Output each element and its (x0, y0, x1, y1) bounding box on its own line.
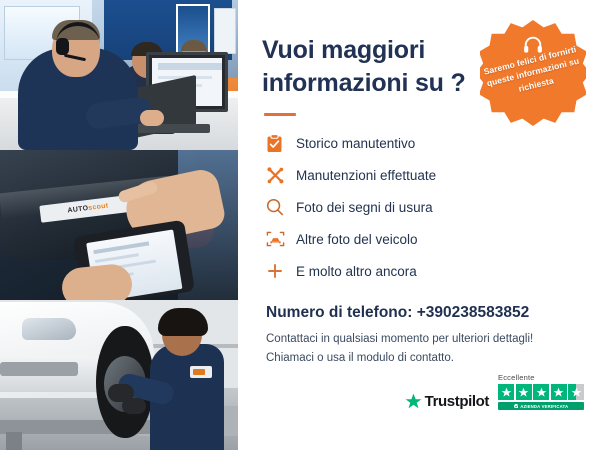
star-filled (516, 384, 532, 400)
list-item: Altre foto del veicolo (266, 226, 578, 252)
uniform-logo-patch (190, 366, 212, 378)
photo-call-center (0, 0, 238, 150)
photo-column: AUTOscout (0, 0, 238, 450)
magnifier-icon (266, 198, 292, 216)
star-filled (498, 384, 514, 400)
tablet-line (95, 253, 139, 263)
feature-list: Storico manutentivo Manutenzi (266, 130, 578, 284)
verified-text: AZIENDA VERIFICATA (520, 404, 568, 409)
page-title: Vuoi maggiori informazioni su ? (262, 34, 477, 99)
screen-toolbar (158, 63, 222, 70)
feature-label: Manutenzioni effettuate (296, 168, 436, 183)
star-half (568, 384, 584, 400)
photo-car-inspection: AUTOscout (0, 150, 238, 300)
contact-line-2: Chiamaci o usa il modulo di contatto. (266, 349, 578, 368)
check-circle-icon (514, 404, 519, 409)
car-lift-leg (6, 432, 22, 450)
car-headlight (22, 318, 76, 340)
auto-label-text: AUTOscout (67, 203, 109, 215)
inspector-hand-lower (60, 262, 134, 300)
tablet-line (93, 241, 149, 254)
list-item: E molto altro ancora (266, 258, 578, 284)
star-filled (551, 384, 567, 400)
content-panel: Vuoi maggiori informazioni su ? Saremo f… (238, 0, 600, 450)
trustpilot-name: Trustpilot (425, 393, 489, 410)
star-filled (533, 384, 549, 400)
feature-label: Foto dei segni di usura (296, 200, 433, 215)
feature-label: Storico manutentivo (296, 136, 415, 151)
list-item: Manutenzioni effettuate (266, 162, 578, 188)
feature-label: Altre foto del veicolo (296, 232, 418, 247)
callout-badge: Saremo felici di fornirti queste informa… (480, 20, 586, 126)
headset-earcup (56, 38, 69, 55)
tools-cross-icon (266, 166, 292, 185)
trustpilot-widget[interactable]: Trustpilot Eccellente (405, 373, 584, 410)
plus-icon (266, 262, 292, 280)
promo-banner: AUTOscout (0, 0, 600, 450)
car-scan-frame-icon (266, 230, 292, 248)
photo-mechanic-wheel (0, 300, 238, 450)
agent-hair-3 (181, 40, 207, 51)
feature-label: E molto altro ancora (296, 264, 417, 279)
list-item: Storico manutentivo (266, 130, 578, 156)
verified-business-badge: AZIENDA VERIFICATA (498, 402, 584, 410)
mechanic-hair (158, 308, 208, 336)
star-rating (498, 384, 584, 400)
trustpilot-rating: Eccellente (498, 373, 584, 410)
contact-line-1: Contattaci in qualsiasi momento per ulte… (266, 330, 578, 349)
list-item: Foto dei segni di usura (266, 194, 578, 220)
agent-hand (140, 110, 164, 126)
clipboard-check-icon (266, 134, 292, 153)
wall-blue-band (104, 0, 232, 60)
car-grille (0, 362, 78, 376)
phone-number[interactable]: Numero di telefono: +390238583852 (266, 304, 578, 322)
wall-notice (214, 8, 236, 54)
title-divider (264, 113, 296, 116)
trustpilot-logo: Trustpilot (405, 393, 489, 410)
mechanic-glove-lower (122, 398, 146, 414)
rating-word: Eccellente (498, 373, 535, 382)
trustpilot-star-icon (405, 393, 422, 410)
